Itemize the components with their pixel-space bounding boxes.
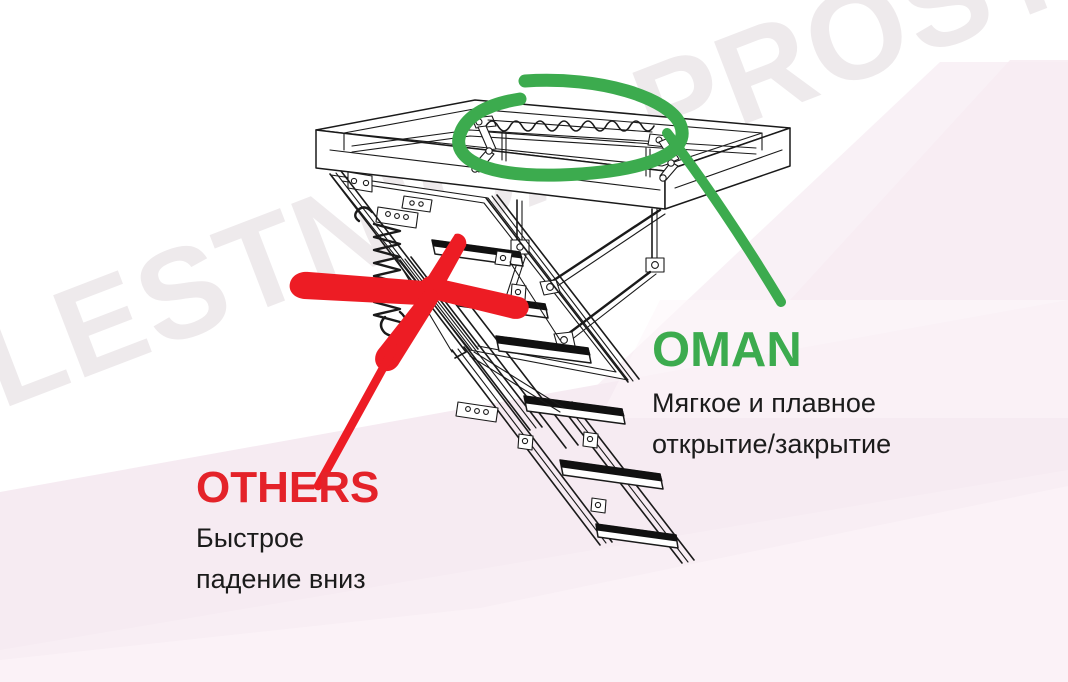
- others-title: OTHERS: [196, 466, 516, 510]
- oman-description-line-2: открытие/закрытие: [652, 424, 982, 465]
- others-description-line-2: падение вниз: [196, 559, 516, 600]
- callout-others: OTHERS Быстрое падение вниз: [196, 466, 516, 600]
- red-arrow-pointing-to-spring: [290, 234, 529, 486]
- oman-title: OMAN: [652, 326, 982, 375]
- oman-description-line-1: Мягкое и плавное: [652, 383, 982, 424]
- illustration-canvas: LESTNICA-PROSTO.RU .ln { fill:none; stro…: [0, 0, 1068, 682]
- callout-oman: OMAN Мягкое и плавное открытие/закрытие: [652, 326, 982, 465]
- others-description-line-1: Быстрое: [196, 518, 516, 559]
